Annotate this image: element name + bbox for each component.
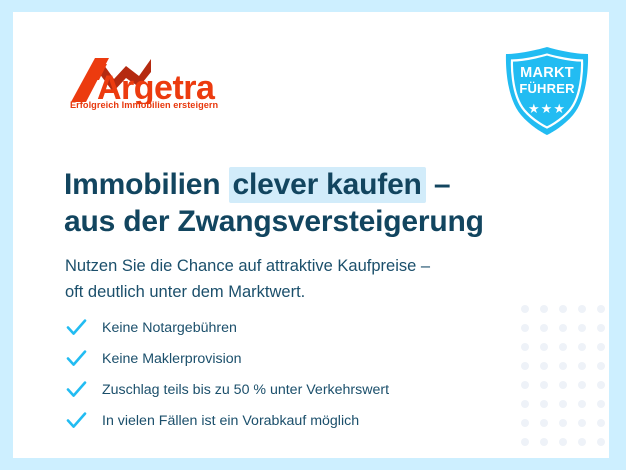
- decoration-dot: [578, 324, 586, 332]
- decoration-dot: [559, 381, 567, 389]
- decoration-dot: [559, 343, 567, 351]
- benefit-label: Keine Maklerprovision: [102, 350, 242, 368]
- check-icon: [66, 318, 87, 337]
- svg-text:Argetra: Argetra: [97, 69, 216, 104]
- decoration-dot: [597, 305, 605, 313]
- page-title: Immobilien clever kaufen – aus der Zwang…: [64, 166, 574, 240]
- decoration-dot: [597, 324, 605, 332]
- list-item: Zuschlag teils bis zu 50 % unter Verkehr…: [66, 374, 536, 405]
- argetra-logo-mark: Argetra: [69, 54, 219, 104]
- headline-line-2: aus der Zwangsversteigerung: [64, 203, 574, 240]
- headline-suffix: –: [426, 168, 451, 201]
- decoration-dot: [540, 381, 548, 389]
- check-icon: [66, 380, 87, 399]
- list-item: Keine Notargebühren: [66, 312, 536, 343]
- headline-highlight: clever kaufen: [229, 167, 426, 203]
- decoration-dot: [559, 324, 567, 332]
- decoration-dot: [521, 438, 529, 446]
- shield-icon: [500, 45, 594, 137]
- decoration-dot: [540, 362, 548, 370]
- decoration-dot: [578, 419, 586, 427]
- decoration-dot: [597, 343, 605, 351]
- check-icon: [66, 349, 87, 368]
- subtitle: Nutzen Sie die Chance auf attraktive Kau…: [65, 253, 565, 305]
- decoration-dot: [559, 419, 567, 427]
- decoration-dot: [578, 438, 586, 446]
- decoration-dot: [540, 438, 548, 446]
- decoration-dot: [559, 305, 567, 313]
- decoration-dot: [559, 362, 567, 370]
- check-icon: [66, 411, 87, 430]
- decoration-dot: [559, 438, 567, 446]
- argetra-logo[interactable]: Argetra Erfolgreich Immobilien ersteiger…: [69, 54, 214, 119]
- decoration-dot: [540, 305, 548, 313]
- subtitle-line-1: Nutzen Sie die Chance auf attraktive Kau…: [65, 253, 565, 279]
- decoration-dot: [597, 419, 605, 427]
- markt-fuehrer-badge: MARKT FÜHRER ★★★: [500, 45, 594, 137]
- logo-tagline: Erfolgreich Immobilien ersteigern: [70, 100, 218, 110]
- list-item: In vielen Fällen ist ein Vorabkauf mögli…: [66, 405, 536, 436]
- decoration-dot: [578, 381, 586, 389]
- subtitle-line-2: oft deutlich unter dem Marktwert.: [65, 279, 565, 305]
- decoration-dot: [597, 381, 605, 389]
- decoration-dot: [578, 343, 586, 351]
- benefit-label: In vielen Fällen ist ein Vorabkauf mögli…: [102, 412, 359, 430]
- decoration-dot: [540, 343, 548, 351]
- benefits-list: Keine Notargebühren Keine Maklerprovisio…: [66, 312, 536, 436]
- decoration-dot: [540, 324, 548, 332]
- decoration-dot: [559, 400, 567, 408]
- decoration-dot: [597, 400, 605, 408]
- headline-prefix: Immobilien: [64, 168, 229, 201]
- decoration-dot: [597, 362, 605, 370]
- decoration-dot: [578, 400, 586, 408]
- decoration-dot: [540, 400, 548, 408]
- benefit-label: Zuschlag teils bis zu 50 % unter Verkehr…: [102, 381, 389, 399]
- content-card: Argetra Erfolgreich Immobilien ersteiger…: [13, 12, 609, 458]
- decoration-dot: [578, 305, 586, 313]
- decoration-dot: [578, 362, 586, 370]
- promo-banner: Argetra Erfolgreich Immobilien ersteiger…: [0, 0, 626, 470]
- decoration-dot: [540, 419, 548, 427]
- benefit-label: Keine Notargebühren: [102, 319, 237, 337]
- decoration-dot: [597, 438, 605, 446]
- headline-line-1: Immobilien clever kaufen –: [64, 166, 574, 203]
- list-item: Keine Maklerprovision: [66, 343, 536, 374]
